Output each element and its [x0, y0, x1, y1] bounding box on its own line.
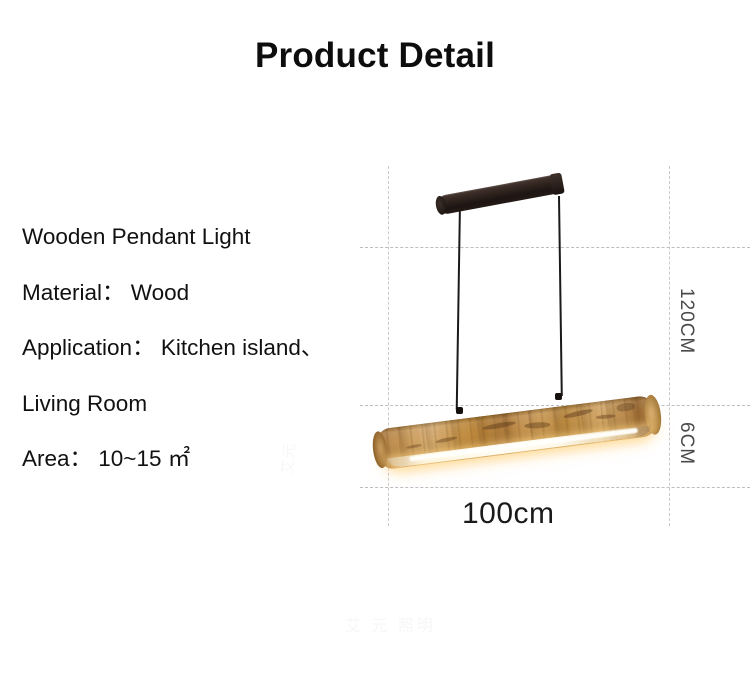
- suspension-cord-right: [558, 196, 562, 396]
- guide-line-vertical-right: [669, 166, 670, 526]
- product-detail-page: Product Detail Wooden Pendant Light Mate…: [0, 0, 750, 686]
- product-dimension-diagram: 120CM 6CM 100cm: [330, 150, 750, 570]
- spec-line-application: Application： Kitchen island、: [22, 337, 372, 360]
- wood-grain-mark: [524, 422, 550, 429]
- guide-line-horizontal-middle: [360, 405, 750, 406]
- spec-line-product-name: Wooden Pendant Light: [22, 226, 372, 249]
- watermark-bottom: 艾 元 照明: [345, 612, 436, 636]
- spec-line-application-cont: Living Room: [22, 393, 372, 416]
- wood-grain-mark: [435, 436, 457, 445]
- dimension-label-height: 120CM: [675, 288, 697, 354]
- wood-knot-mark: [616, 402, 635, 412]
- guide-line-horizontal-bottom: [360, 487, 750, 488]
- product-spec-list: Wooden Pendant Light Material： Wood Appl…: [22, 226, 372, 471]
- wood-grain-mark: [406, 443, 422, 449]
- ceiling-mount-bar: [436, 174, 562, 215]
- dimension-label-thickness: 6CM: [675, 422, 697, 465]
- spec-line-material: Material： Wood: [22, 282, 372, 305]
- wood-grain-mark: [596, 414, 616, 420]
- dimension-label-length: 100cm: [462, 497, 555, 531]
- cord-clip-right: [555, 393, 562, 400]
- guide-line-vertical-left: [388, 166, 389, 526]
- wood-grain-mark: [563, 408, 593, 420]
- wood-grain-mark: [482, 420, 516, 431]
- guide-line-horizontal-top: [360, 247, 750, 248]
- page-title: Product Detail: [0, 36, 750, 76]
- mount-bar-end-right: [549, 172, 565, 195]
- cord-clip-left: [456, 407, 463, 414]
- mount-bar-body: [436, 174, 562, 215]
- suspension-cord-left: [456, 202, 461, 410]
- spec-line-area: Area： 10~15 ㎡: [22, 448, 372, 471]
